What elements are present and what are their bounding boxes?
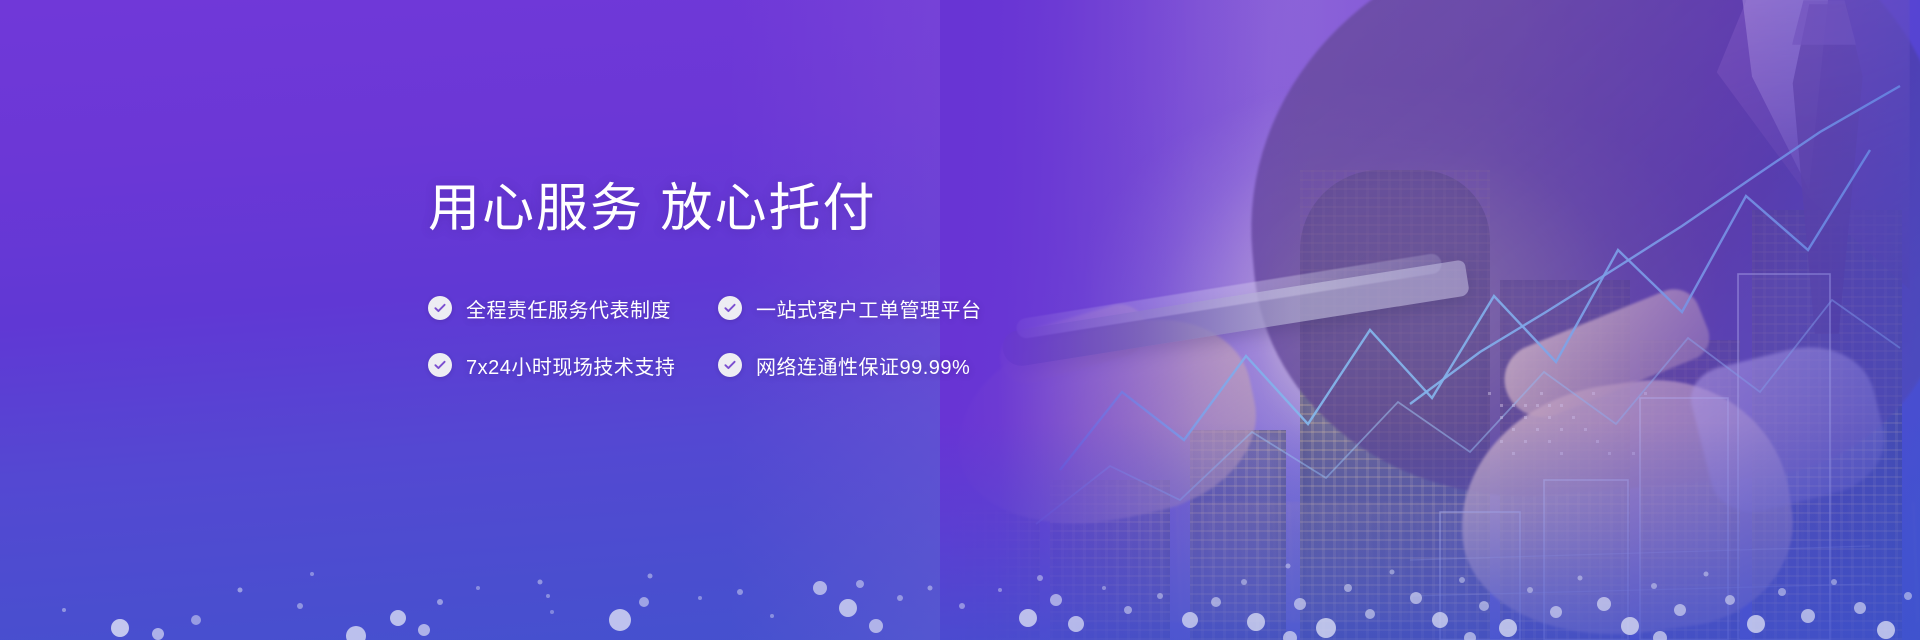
feature-list: 全程责任服务代表制度 一站式客户工单管理平台 xyxy=(428,294,1148,380)
feature-label: 7x24小时现场技术支持 xyxy=(466,351,675,380)
feature-item: 一站式客户工单管理平台 xyxy=(718,294,982,323)
check-circle-icon xyxy=(718,353,742,377)
page-title: 用心服务 放心托付 xyxy=(428,180,1148,240)
check-circle-icon xyxy=(428,296,452,320)
feature-label: 一站式客户工单管理平台 xyxy=(756,294,982,323)
feature-item: 全程责任服务代表制度 xyxy=(428,294,690,323)
feature-item: 7x24小时现场技术支持 xyxy=(428,351,690,380)
banner-content: 用心服务 放心托付 全程责任服务代表制度 xyxy=(428,180,1148,380)
check-circle-icon xyxy=(718,296,742,320)
check-circle-icon xyxy=(428,353,452,377)
feature-label: 全程责任服务代表制度 xyxy=(466,294,671,323)
feature-item: 网络连通性保证99.99% xyxy=(718,351,970,380)
hero-banner: 用心服务 放心托付 全程责任服务代表制度 xyxy=(0,0,1920,640)
feature-row: 全程责任服务代表制度 一站式客户工单管理平台 xyxy=(428,294,1148,323)
feature-label: 网络连通性保证99.99% xyxy=(756,351,970,380)
feature-row: 7x24小时现场技术支持 网络连通性保证99.99% xyxy=(428,351,1148,380)
